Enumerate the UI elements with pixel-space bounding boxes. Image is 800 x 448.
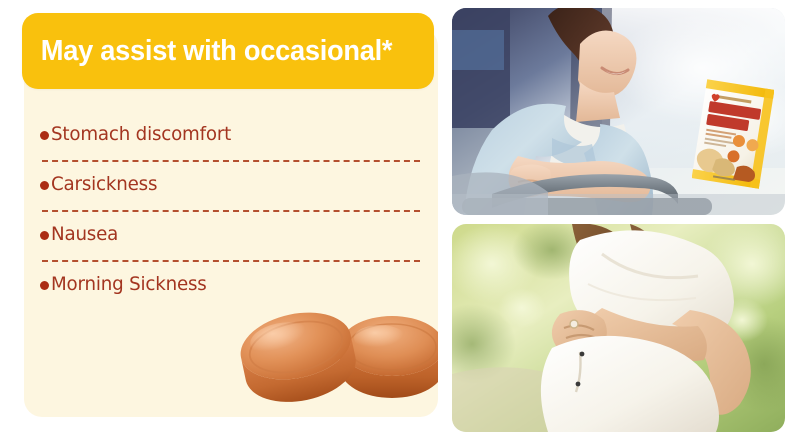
benefit-label: Carsickness xyxy=(51,173,157,195)
page-title: May assist with occasional* xyxy=(22,35,392,68)
bullet-icon xyxy=(40,131,49,140)
bullet-icon xyxy=(40,181,49,190)
ginger-candy-package xyxy=(692,78,774,190)
list-item: Stomach discomfort xyxy=(40,118,422,168)
benefit-list: Stomach discomfort Carsickness Nausea Mo… xyxy=(40,118,422,318)
list-item: Nausea xyxy=(40,218,422,268)
bullet-icon xyxy=(40,231,49,240)
list-divider xyxy=(42,260,420,262)
list-divider xyxy=(42,160,420,162)
bullet-icon xyxy=(40,281,49,290)
header-badge: May assist with occasional* xyxy=(22,13,434,89)
photo-pregnant-woman xyxy=(452,224,785,432)
benefit-label: Nausea xyxy=(51,223,118,245)
list-item: Morning Sickness xyxy=(40,268,422,318)
benefit-label: Morning Sickness xyxy=(51,273,207,295)
list-divider xyxy=(42,210,420,212)
benefit-label: Stomach discomfort xyxy=(51,123,231,145)
list-item: Carsickness xyxy=(40,168,422,218)
